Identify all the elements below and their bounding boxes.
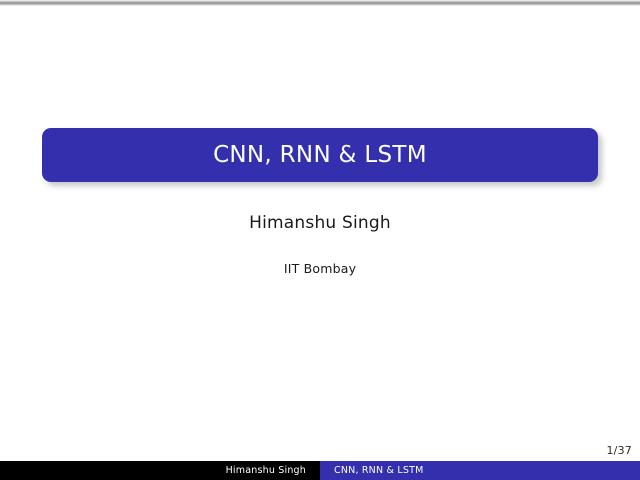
- footline-author-label: Himanshu Singh: [226, 466, 306, 476]
- footline-author-section: Himanshu Singh: [0, 461, 320, 480]
- title-banner-fill: CNN, RNN & LSTM: [42, 128, 598, 182]
- author-name: Himanshu Singh: [0, 213, 640, 233]
- presentation-slide: CNN, RNN & LSTM Himanshu Singh IIT Bomba…: [0, 0, 640, 480]
- footline-bar: Himanshu Singh CNN, RNN & LSTM: [0, 461, 640, 480]
- page-title: CNN, RNN & LSTM: [213, 144, 427, 167]
- institute-name: IIT Bombay: [0, 261, 640, 276]
- title-banner: CNN, RNN & LSTM: [42, 128, 598, 182]
- page-number: 1/37: [606, 444, 632, 457]
- page-top-edge-divider: [0, 0, 640, 6]
- footline-title-label: CNN, RNN & LSTM: [334, 466, 423, 476]
- footline-title-section: CNN, RNN & LSTM: [320, 461, 640, 480]
